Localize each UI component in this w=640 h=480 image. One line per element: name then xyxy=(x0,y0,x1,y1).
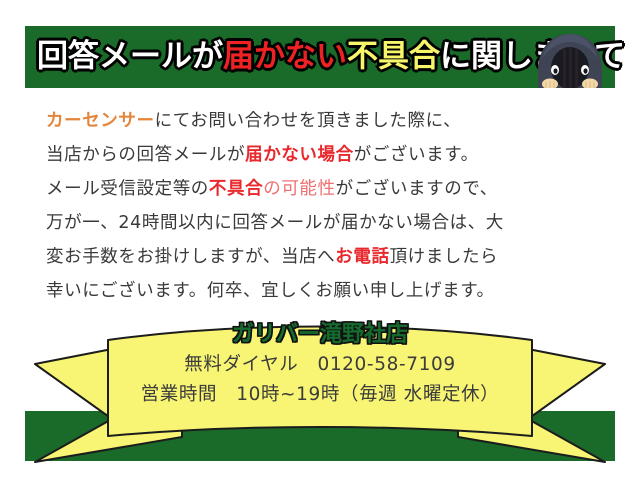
body-text-run: がございますので、 xyxy=(336,179,498,199)
email-notice-poster: 回答メールが届かない不具合に関しまして xyxy=(0,0,640,480)
body-text-run: メール受信設定等の xyxy=(46,179,209,199)
body-emphasis-phone-call: お電話 xyxy=(335,247,389,267)
body-text-run: 頂けましたら xyxy=(390,247,499,267)
body-text-run: にてお問い合わせを頂きました際に、 xyxy=(155,111,462,131)
shop-info-ribbon: ガリバー滝野社店 無料ダイヤル 0120-58-7109 営業時間 10時~19… xyxy=(0,306,640,480)
title-segment-2: 届かない xyxy=(223,39,347,75)
body-text-run: 幸いにございます。何卒、宜しくお願い申し上げます。 xyxy=(46,281,495,301)
body-line-2: 当店からの回答メールが届かない場合がございます。 xyxy=(46,138,606,172)
body-line-6: 幸いにございます。何卒、宜しくお願い申し上げます。 xyxy=(46,274,606,308)
body-line-1: カーセンサーにてお問い合わせを頂きました際に、 xyxy=(46,104,606,138)
body-text-run: 万が一、24時間以内に回答メールが届かない場合は、大 xyxy=(46,213,504,233)
free-dial-line: 無料ダイヤル 0120-58-7109 xyxy=(110,350,530,380)
body-text-run: 変お手数をお掛けしますが、当店へ xyxy=(46,247,335,267)
body-emphasis-carsensor: カーセンサー xyxy=(46,111,155,131)
title-segment-1: 回答メールが xyxy=(37,39,223,75)
body-emphasis-not-delivered: 届かない場合 xyxy=(245,145,354,165)
body-emphasis-possibility: の可能性 xyxy=(263,179,335,199)
business-hours-line: 営業時間 10時~19時（毎週 水曜定休） xyxy=(110,380,530,410)
body-line-3: メール受信設定等の不具合の可能性がございますので、 xyxy=(46,172,606,206)
header-banner: 回答メールが届かない不具合に関しまして xyxy=(25,26,615,88)
body-text-run: がございます。 xyxy=(354,145,479,165)
body-line-4: 万が一、24時間以内に回答メールが届かない場合は、大 xyxy=(46,206,606,240)
body-emphasis-malfunction: 不具合 xyxy=(209,179,263,199)
title-segment-3: 不具合 xyxy=(347,39,440,75)
mole-mascot-icon xyxy=(533,32,607,88)
shop-info-text: ガリバー滝野社店 無料ダイヤル 0120-58-7109 営業時間 10時~19… xyxy=(110,320,530,410)
notice-body: カーセンサーにてお問い合わせを頂きました際に、 当店からの回答メールが届かない場… xyxy=(46,104,606,308)
shop-name: ガリバー滝野社店 xyxy=(110,320,530,350)
body-line-5: 変お手数をお掛けしますが、当店へお電話頂けましたら xyxy=(46,240,606,274)
body-text-run: 当店からの回答メールが xyxy=(46,145,245,165)
